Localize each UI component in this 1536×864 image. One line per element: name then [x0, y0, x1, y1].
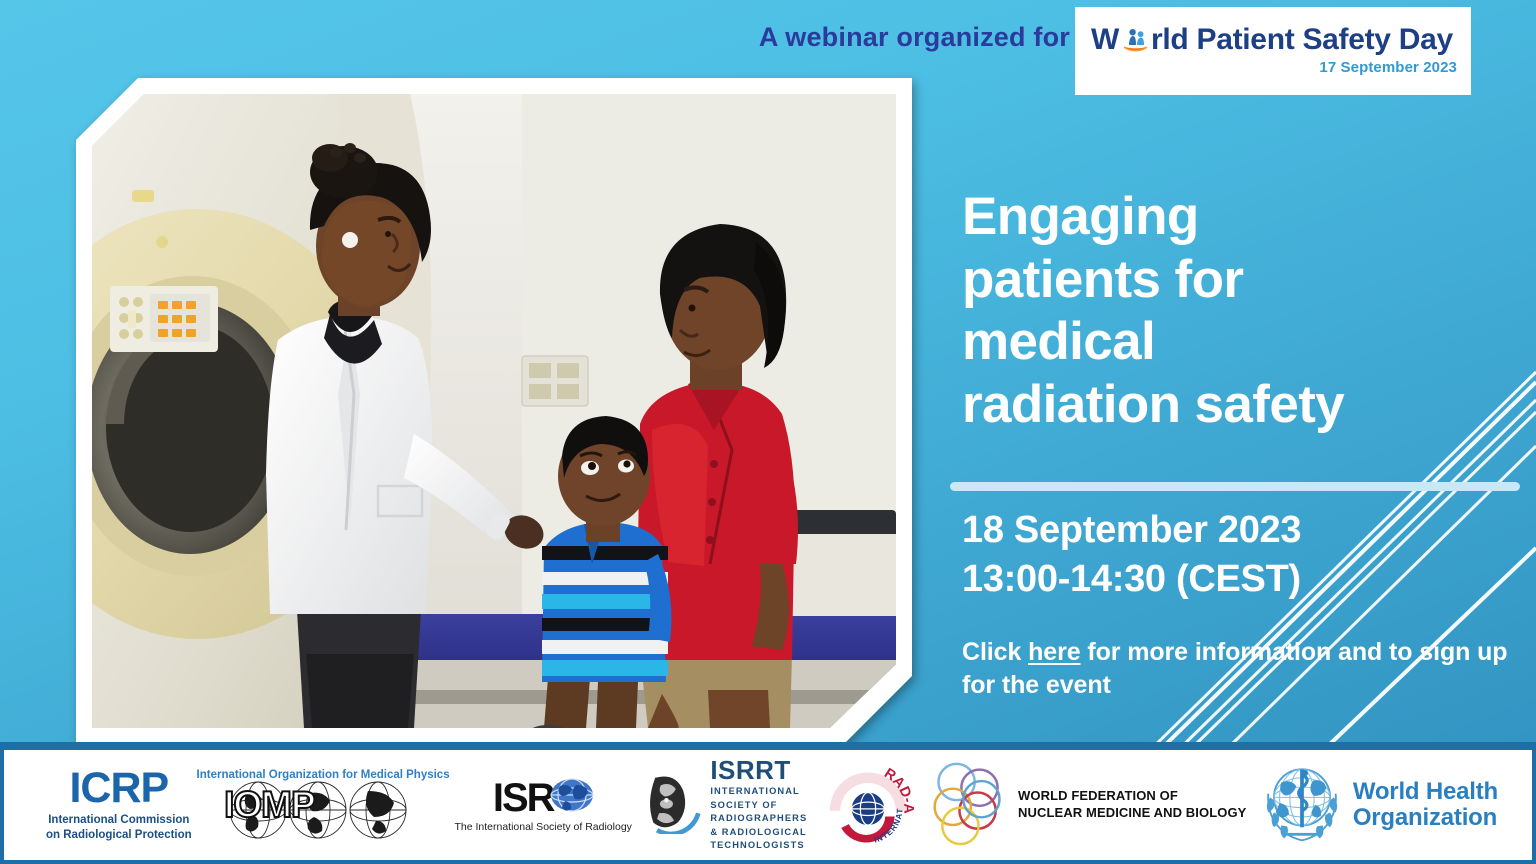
isrrt-subtitle: INTERNATIONAL SOCIETY OF RADIOGRAPHERS &…	[710, 785, 807, 852]
wpsd-date: 17 September 2023	[1091, 59, 1457, 76]
event-time: 13:00-14:30 (CEST)	[962, 555, 1301, 604]
wpsd-title-before: W	[1091, 25, 1119, 55]
page-title: Engaging patients for medical radiation …	[962, 186, 1522, 436]
who-title-line-1: World Health	[1353, 779, 1498, 805]
logo-who: World Health Organization	[1259, 760, 1498, 851]
icrp-subtitle: International Commission on Radiological…	[46, 813, 192, 842]
patient-safety-figures-icon	[1120, 25, 1150, 56]
registration-cta: Click here for more information and to s…	[962, 636, 1522, 703]
isr-subtitle: The International Society of Radiology	[454, 821, 631, 833]
isrrt-subtitle-line-2: SOCIETY OF	[710, 799, 807, 812]
logo-isr: ISR The International Society of Radiolo…	[454, 777, 631, 833]
photo-image	[92, 94, 896, 728]
wpsd-title: W rld Patient Safety Day	[1091, 25, 1457, 56]
isrrt-subtitle-line-3: RADIOGRAPHERS	[710, 812, 807, 825]
webinar-organized-for-label: A webinar organized for	[759, 22, 1070, 53]
isrrt-text: ISRRT INTERNATIONAL SOCIETY OF RADIOGRAP…	[710, 757, 807, 852]
who-emblem-icon	[1259, 760, 1345, 851]
iomp-globes-icon: IOMP	[218, 779, 428, 841]
partner-logo-bar: ICRP International Commission on Radiolo…	[4, 750, 1532, 860]
webinar-poster: A webinar organized for W rld Patient Sa…	[0, 0, 1536, 864]
event-datetime: 18 September 2023 13:00-14:30 (CEST)	[962, 506, 1301, 603]
isr-wordmark: ISR	[493, 778, 554, 818]
wfnmb-title: WORLD FEDERATION OF NUCLEAR MEDICINE AND…	[1018, 788, 1246, 822]
headline-line-3: medical	[962, 311, 1522, 374]
divider-rule	[950, 482, 1520, 491]
who-title: World Health Organization	[1353, 779, 1498, 831]
icrp-subtitle-line-2: on Radiological Protection	[46, 828, 192, 843]
isrrt-subtitle-line-1: INTERNATIONAL	[710, 785, 807, 798]
who-title-line-2: Organization	[1353, 805, 1498, 831]
hero-photo	[76, 78, 912, 744]
rad-aid-emblem-icon: RAD-AID INTERNATIONAL	[822, 761, 914, 849]
icrp-wordmark: ICRP	[69, 767, 168, 810]
headline-line-4: radiation safety	[962, 374, 1522, 437]
isrrt-subtitle-line-4: & RADIOLOGICAL	[710, 826, 807, 839]
isrrt-emblem-icon	[644, 772, 702, 839]
isr-globe-icon	[554, 777, 594, 818]
cta-prefix: Click	[962, 638, 1028, 666]
event-date: 18 September 2023	[962, 506, 1301, 555]
logo-isrrt: ISRRT INTERNATIONAL SOCIETY OF RADIOGRAP…	[644, 757, 807, 852]
headline-line-2: patients for	[962, 249, 1522, 312]
wpsd-title-after: rld Patient Safety Day	[1151, 25, 1453, 55]
isr-mark-row: ISR	[493, 777, 594, 818]
iomp-wordmark: IOMP	[224, 786, 315, 823]
isrrt-subtitle-line-5: TECHNOLOGISTS	[710, 839, 807, 852]
registration-link[interactable]: here	[1028, 638, 1080, 666]
wfnmb-title-line-1: WORLD FEDERATION OF	[1018, 788, 1246, 805]
icrp-subtitle-line-1: International Commission	[46, 813, 192, 828]
wfnmb-circles-icon	[928, 759, 1010, 852]
headline-line-1: Engaging	[962, 186, 1522, 249]
world-patient-safety-day-logo: W rld Patient Safety Day 17 September 20…	[1075, 7, 1471, 95]
logo-icrp: ICRP International Commission on Radiolo…	[46, 767, 192, 842]
isrrt-wordmark: ISRRT	[710, 757, 807, 783]
logo-rad-aid: RAD-AID INTERNATIONAL	[820, 761, 916, 849]
logo-wfnmb: WORLD FEDERATION OF NUCLEAR MEDICINE AND…	[928, 759, 1246, 852]
logo-iomp: International Organization for Medical P…	[204, 769, 442, 841]
wfnmb-title-line-2: NUCLEAR MEDICINE AND BIOLOGY	[1018, 805, 1246, 822]
